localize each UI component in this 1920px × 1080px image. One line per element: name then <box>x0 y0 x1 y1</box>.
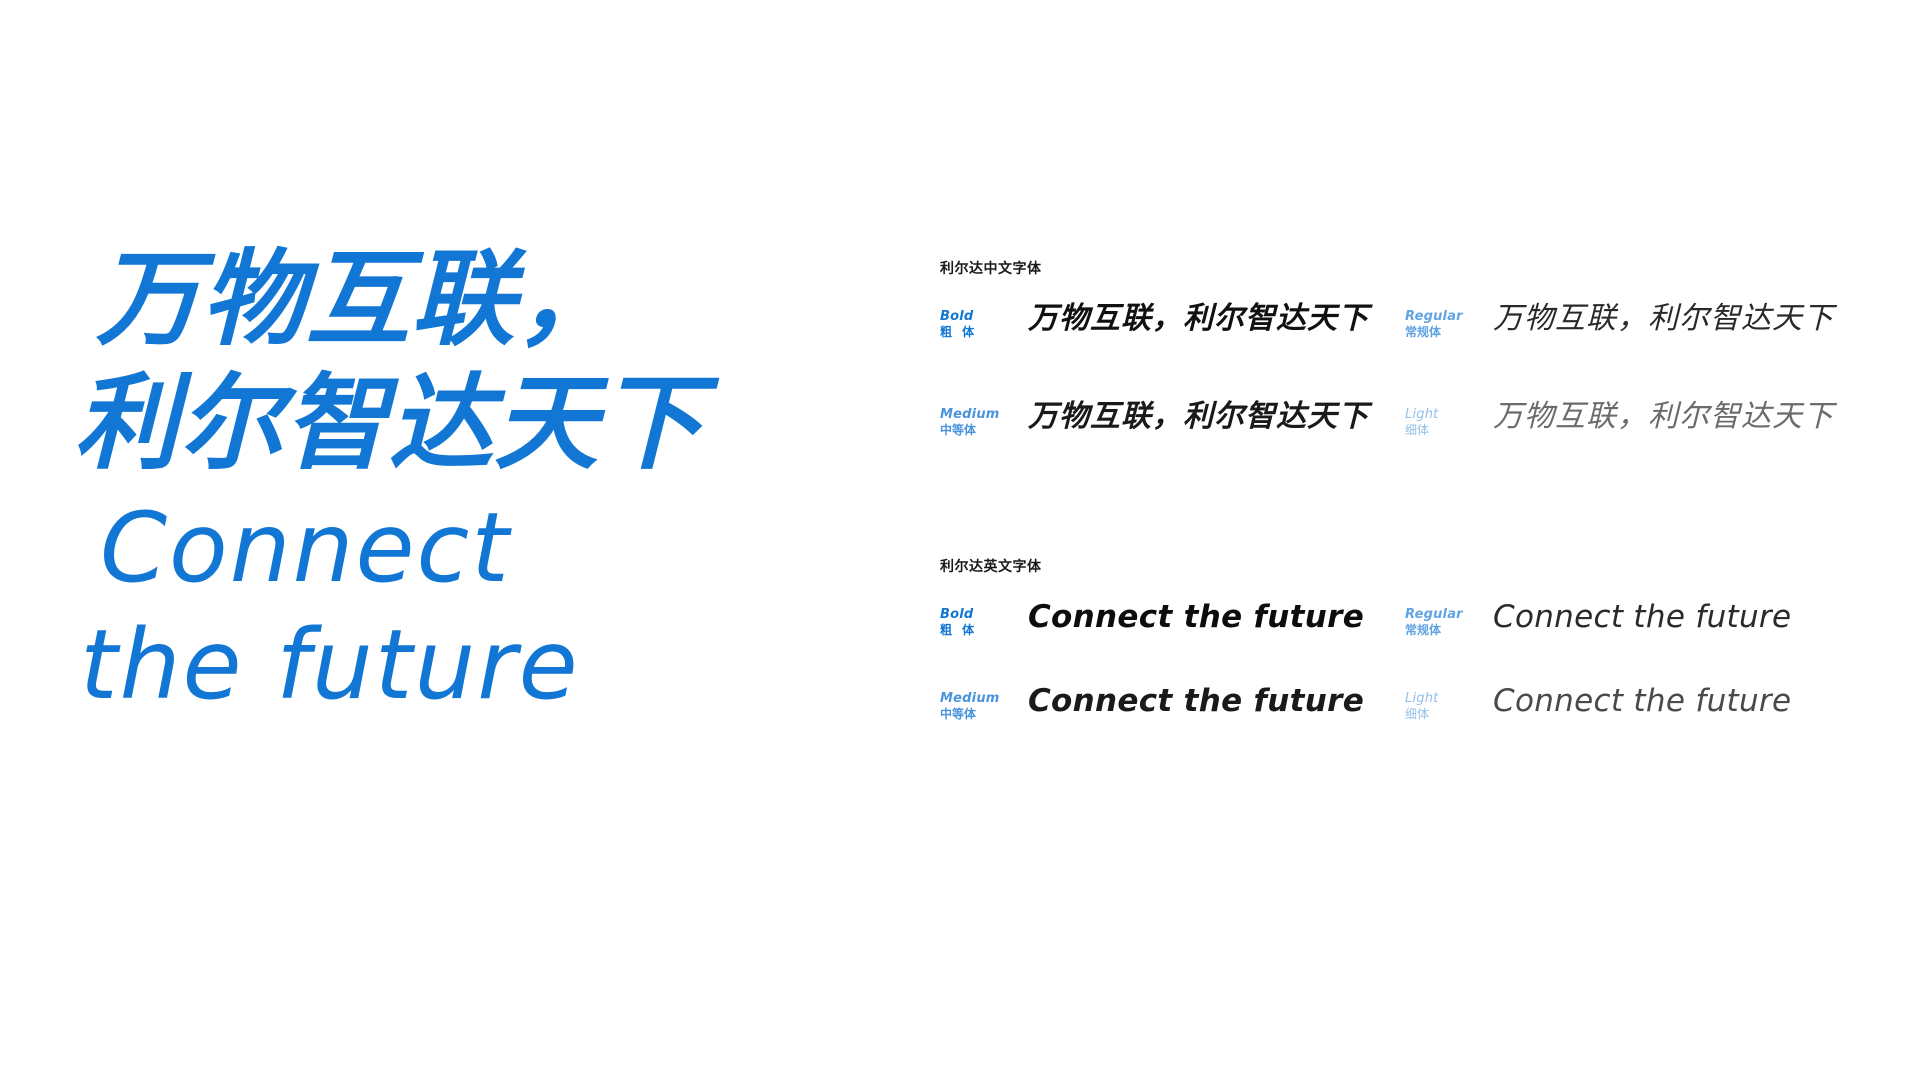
specimen-rows-english: Bold 粗 体 Connect the future Regular 常规体 <box>940 602 1870 770</box>
sample-wrapper: Connect the future <box>1010 602 1364 633</box>
weight-label-regular: Regular 常规体 <box>1405 304 1475 341</box>
weight-label-cn: 粗 体 <box>940 623 1010 639</box>
specimen-cell-light: Light 细体 万物互联，利尔智达天下 <box>1405 402 1870 439</box>
sample-wrapper: 万物互联，利尔智达天下 <box>1475 402 1834 432</box>
specimen-row: Medium 中等体 Connect the future Light 细体 <box>940 686 1870 770</box>
weight-label-regular: Regular 常规体 <box>1405 602 1475 639</box>
weight-label-en: Bold <box>940 608 1010 623</box>
sample-text-english-light: Connect the future <box>1493 683 1791 719</box>
weight-label-cn: 粗 体 <box>940 325 1010 341</box>
section-title-english: 利尔达英文字体 <box>940 560 1870 574</box>
weight-label-medium: Medium 中等体 <box>940 686 1010 723</box>
weight-label-cn: 细体 <box>1405 707 1475 723</box>
weight-label-en: Medium <box>940 692 1010 707</box>
sample-text-chinese-medium: 万物互联，利尔智达天下 <box>1028 399 1369 434</box>
weight-label-en: Medium <box>940 408 1010 423</box>
weight-label-cn: 中等体 <box>940 423 1010 439</box>
hero-chinese-line-2: 利尔智达天下 <box>74 362 886 486</box>
weight-label-en: Bold <box>940 310 1010 325</box>
hero-english-line-2: the future <box>80 611 886 720</box>
sample-wrapper: 万物互联，利尔智达天下 <box>1010 304 1369 334</box>
specimen-cell-regular: Regular 常规体 万物互联，利尔智达天下 <box>1405 304 1870 341</box>
specimen-section-chinese: 利尔达中文字体 Bold 粗 体 万物互联，利尔智达天下 <box>940 262 1870 500</box>
weight-label-medium: Medium 中等体 <box>940 402 1010 439</box>
weight-label-en: Regular <box>1405 608 1475 623</box>
typography-specimen-page: 万物互联， 利尔智达天下 Connect the future 利尔达中文字体 … <box>0 0 1920 1080</box>
sample-text-chinese-regular: 万物互联，利尔智达天下 <box>1493 301 1834 336</box>
weight-label-bold: Bold 粗 体 <box>940 304 1010 341</box>
sample-text-english-medium: Connect the future <box>1028 683 1364 719</box>
weight-label-cn: 中等体 <box>940 707 1010 723</box>
specimen-row: Bold 粗 体 Connect the future Regular 常规体 <box>940 602 1870 686</box>
weight-label-light: Light 细体 <box>1405 686 1475 723</box>
specimen-section-english: 利尔达英文字体 Bold 粗 体 Connect the future <box>940 560 1870 770</box>
weight-label-cn: 常规体 <box>1405 325 1475 341</box>
specimen-row: Medium 中等体 万物互联，利尔智达天下 Light 细体 <box>940 402 1870 500</box>
sample-text-chinese-bold: 万物互联，利尔智达天下 <box>1028 301 1369 336</box>
sample-text-chinese-light: 万物互联，利尔智达天下 <box>1493 399 1834 434</box>
hero-chinese-line-1: 万物互联， <box>96 238 886 362</box>
specimen-cell-medium: Medium 中等体 万物互联，利尔智达天下 <box>940 402 1405 439</box>
sample-wrapper: 万物互联，利尔智达天下 <box>1475 304 1834 334</box>
weight-label-en: Light <box>1405 692 1475 707</box>
weight-label-light: Light 细体 <box>1405 402 1475 439</box>
specimen-cell-light: Light 细体 Connect the future <box>1405 686 1870 723</box>
specimen-row: Bold 粗 体 万物互联，利尔智达天下 Regular 常规体 <box>940 304 1870 402</box>
specimen-cell-regular: Regular 常规体 Connect the future <box>1405 602 1870 639</box>
sample-wrapper: Connect the future <box>1010 686 1364 717</box>
weight-label-en: Regular <box>1405 310 1475 325</box>
sample-text-english-bold: Connect the future <box>1028 599 1364 635</box>
specimen-cell-bold: Bold 粗 体 Connect the future <box>940 602 1405 639</box>
sample-wrapper: 万物互联，利尔智达天下 <box>1010 402 1369 432</box>
specimen-rows-chinese: Bold 粗 体 万物互联，利尔智达天下 Regular 常规体 <box>940 304 1870 500</box>
hero-english-line-1: Connect <box>100 494 886 603</box>
section-title-chinese: 利尔达中文字体 <box>940 262 1870 276</box>
sample-wrapper: Connect the future <box>1475 602 1791 633</box>
sample-wrapper: Connect the future <box>1475 686 1791 717</box>
specimen-cell-medium: Medium 中等体 Connect the future <box>940 686 1405 723</box>
specimen-cell-bold: Bold 粗 体 万物互联，利尔智达天下 <box>940 304 1405 341</box>
weight-label-bold: Bold 粗 体 <box>940 602 1010 639</box>
sample-text-english-regular: Connect the future <box>1493 599 1791 635</box>
hero-slogan-block: 万物互联， 利尔智达天下 Connect the future <box>96 238 886 720</box>
font-specimen-panel: 利尔达中文字体 Bold 粗 体 万物互联，利尔智达天下 <box>940 262 1870 770</box>
weight-label-cn: 细体 <box>1405 423 1475 439</box>
weight-label-cn: 常规体 <box>1405 623 1475 639</box>
weight-label-en: Light <box>1405 408 1475 423</box>
